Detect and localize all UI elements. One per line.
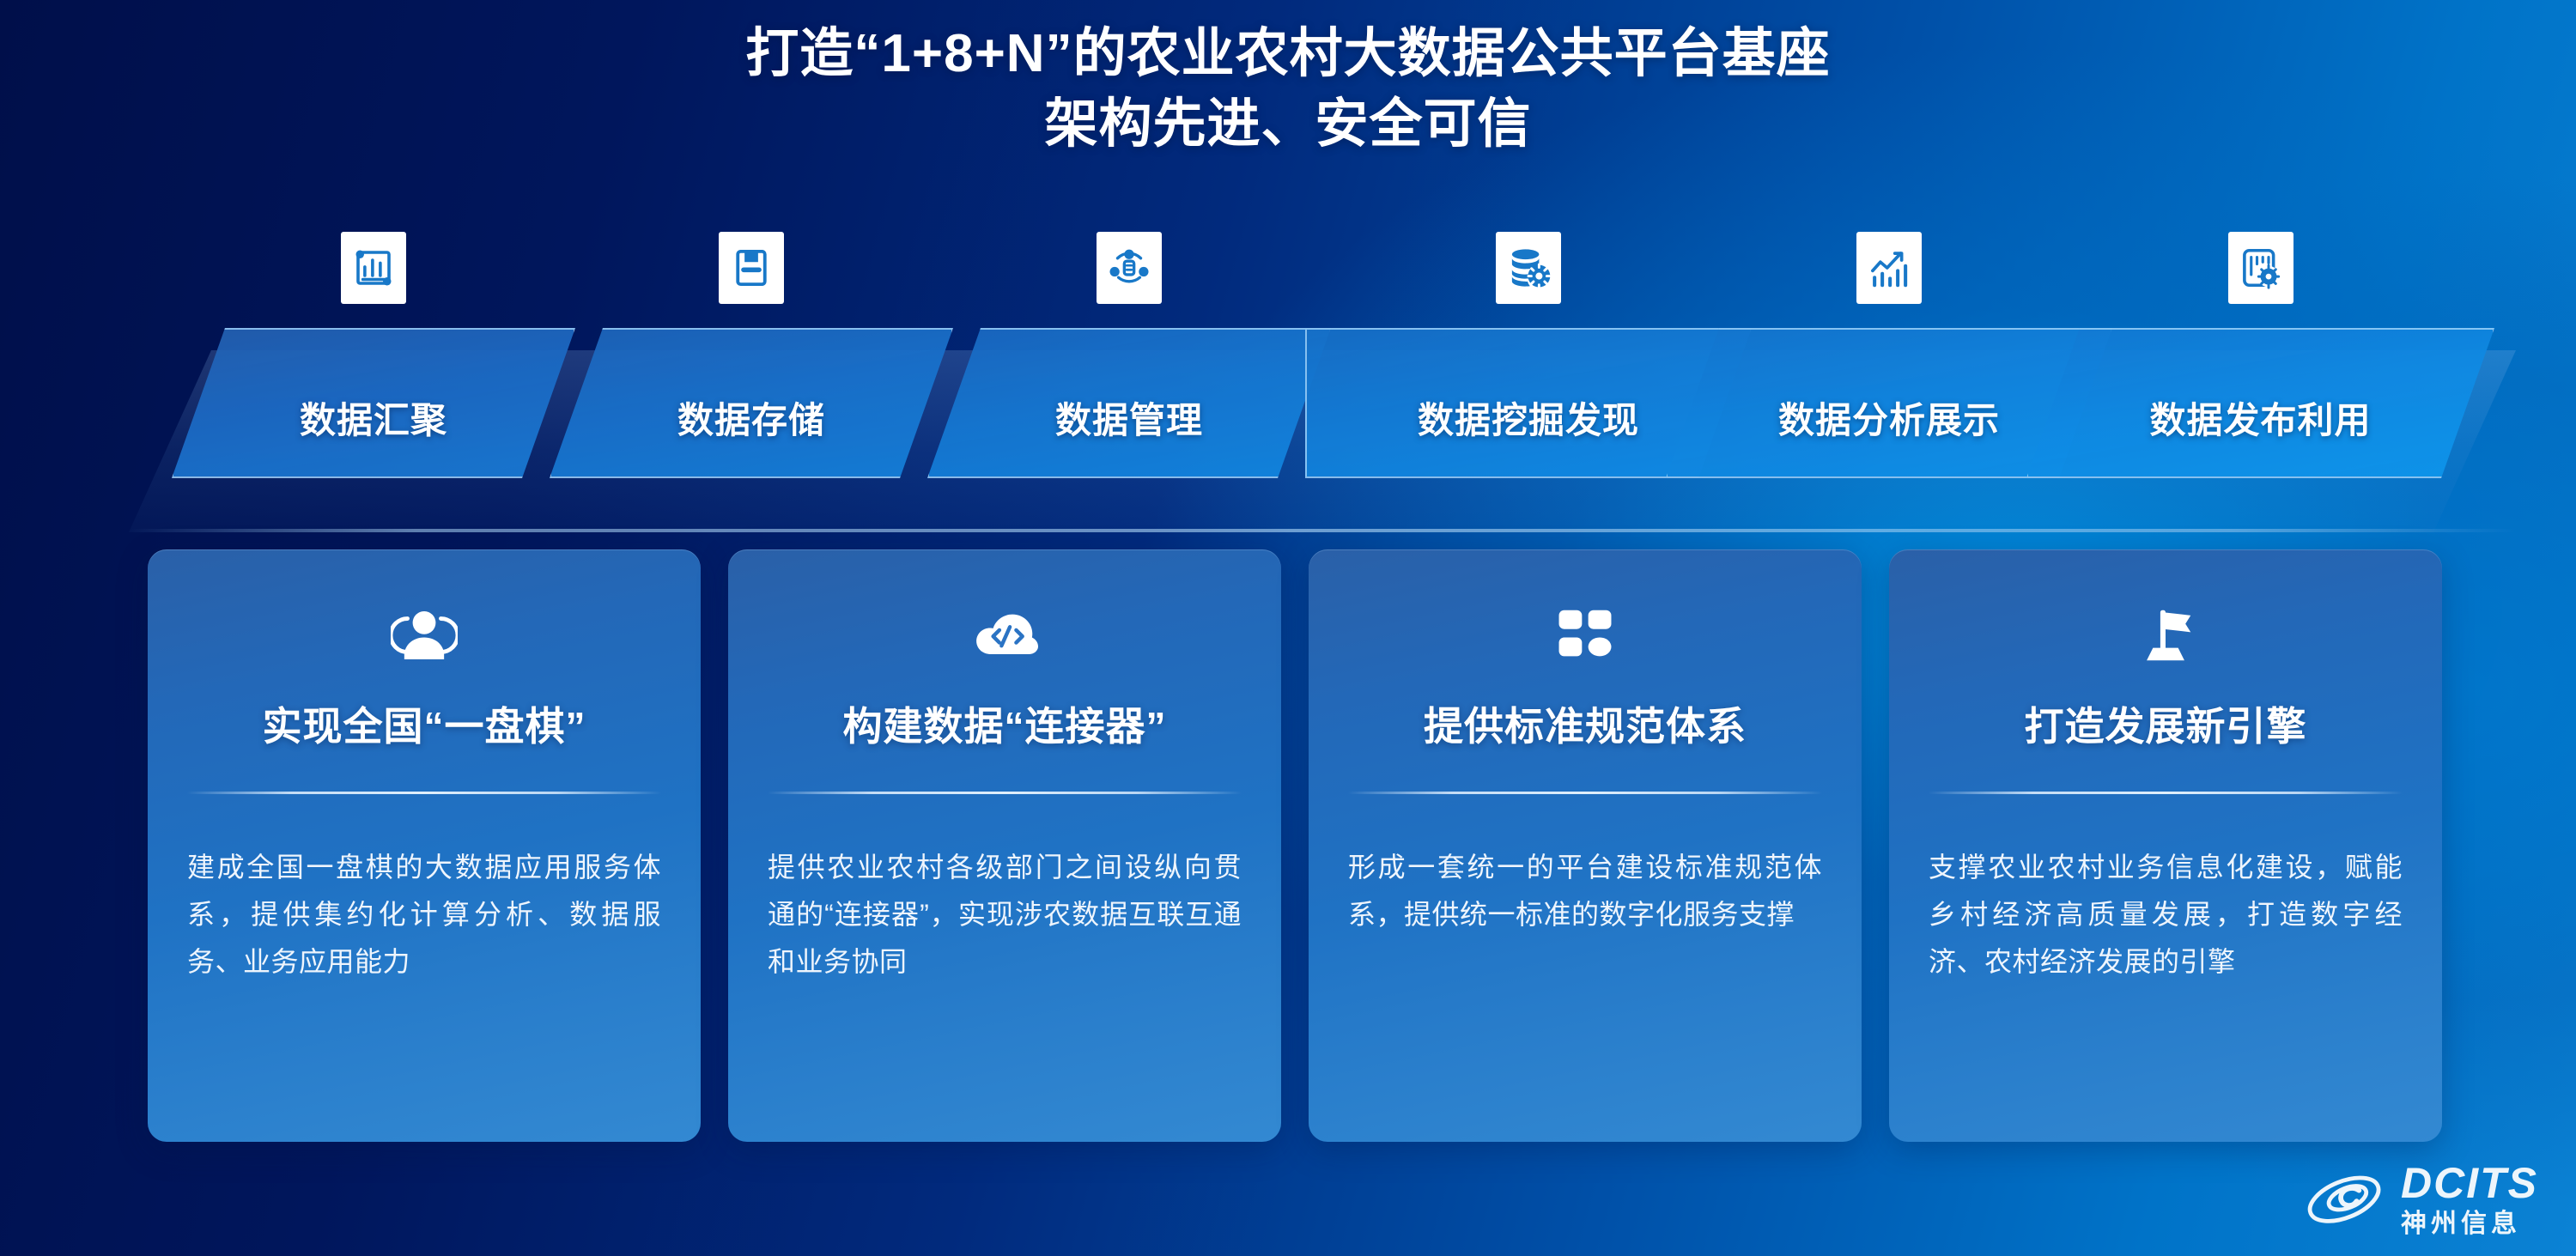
card-body: 支撑农业农村业务信息化建设，赋能乡村经济高质量发展，打造数字经济、农村经济发展的… [1929, 844, 2403, 986]
bar-chart-document-icon [341, 232, 406, 304]
card-body: 形成一套统一的平台建设标准规范体系，提供统一标准的数字化服务支撑 [1348, 844, 1822, 938]
benefit-card-standards-system[interactable]: 提供标准规范体系 形成一套统一的平台建设标准规范体系，提供统一标准的数字化服务支… [1309, 549, 1862, 1142]
ribbon-label: 数据挖掘发现 [1418, 391, 1639, 478]
card-body: 提供农业农村各级部门之间设纵向贯通的“连接器”，实现涉农数据互联互通和业务协同 [768, 844, 1242, 986]
card-title: 实现全国“一盘棋” [187, 695, 661, 752]
ribbon-item-data-publish[interactable]: 数据发布利用 [2026, 328, 2494, 478]
capability-ribbon-band: 数据汇聚 数据存储 数据管理 数据挖掘发现 数据分析展示 [0, 283, 2576, 541]
ribbon-label: 数据发布利用 [2149, 391, 2371, 478]
cloud-code-icon [768, 594, 1242, 677]
grid-blocks-icon [1348, 594, 1822, 677]
ribbon-platform-edge [129, 529, 2516, 532]
ribbon-label: 数据汇聚 [300, 391, 447, 478]
card-title: 打造发展新引擎 [1929, 695, 2403, 752]
ribbon-label: 数据存储 [677, 391, 825, 478]
card-body: 建成全国一盘棋的大数据应用服务体系，提供集约化计算分析、数据服务、业务应用能力 [187, 844, 661, 986]
ribbon-item-data-storage[interactable]: 数据存储 [550, 328, 953, 478]
card-divider [768, 792, 1242, 794]
database-gear-icon [1496, 232, 1561, 304]
card-title: 构建数据“连接器” [768, 695, 1242, 752]
benefit-cards-row: 实现全国“一盘棋” 建成全国一盘棋的大数据应用服务体系，提供集约化计算分析、数据… [0, 549, 2576, 1150]
trend-chart-icon [1856, 232, 1922, 304]
people-network-icon [1097, 232, 1162, 304]
card-title: 提供标准规范体系 [1348, 695, 1822, 752]
ribbon-item-data-aggregation[interactable]: 数据汇聚 [172, 328, 575, 478]
ribbon-item-data-management[interactable]: 数据管理 [927, 328, 1331, 478]
logo-text-cn: 神州信息 [2401, 1211, 2538, 1237]
floppy-disk-icon [719, 232, 784, 304]
document-gear-icon [2228, 232, 2293, 304]
benefit-card-growth-engine[interactable]: 打造发展新引擎 支撑农业农村业务信息化建设，赋能乡村经济高质量发展，打造数字经济… [1889, 549, 2442, 1142]
dcits-swirl-icon [2305, 1162, 2387, 1236]
brand-logo: DCITS 神州信息 [2305, 1162, 2538, 1237]
card-divider [1929, 792, 2403, 794]
ribbon-label: 数据分析展示 [1778, 391, 2000, 478]
page-title: 打造“1+8+N”的农业农村大数据公共平台基座 架构先进、安全可信 [0, 19, 2576, 160]
title-line-2: 架构先进、安全可信 [0, 89, 2576, 160]
benefit-card-national-chess[interactable]: 实现全国“一盘棋” 建成全国一盘棋的大数据应用服务体系，提供集约化计算分析、数据… [148, 549, 701, 1142]
title-line-1: 打造“1+8+N”的农业农村大数据公共平台基座 [0, 19, 2576, 89]
logo-text-en: DCITS [2401, 1162, 2538, 1204]
card-divider [187, 792, 661, 794]
benefit-card-data-connector[interactable]: 构建数据“连接器” 提供农业农村各级部门之间设纵向贯通的“连接器”，实现涉农数据… [728, 549, 1281, 1142]
card-divider [1348, 792, 1822, 794]
people-group-icon [187, 594, 661, 677]
ribbon-label: 数据管理 [1055, 391, 1203, 478]
flag-icon [1929, 594, 2403, 677]
